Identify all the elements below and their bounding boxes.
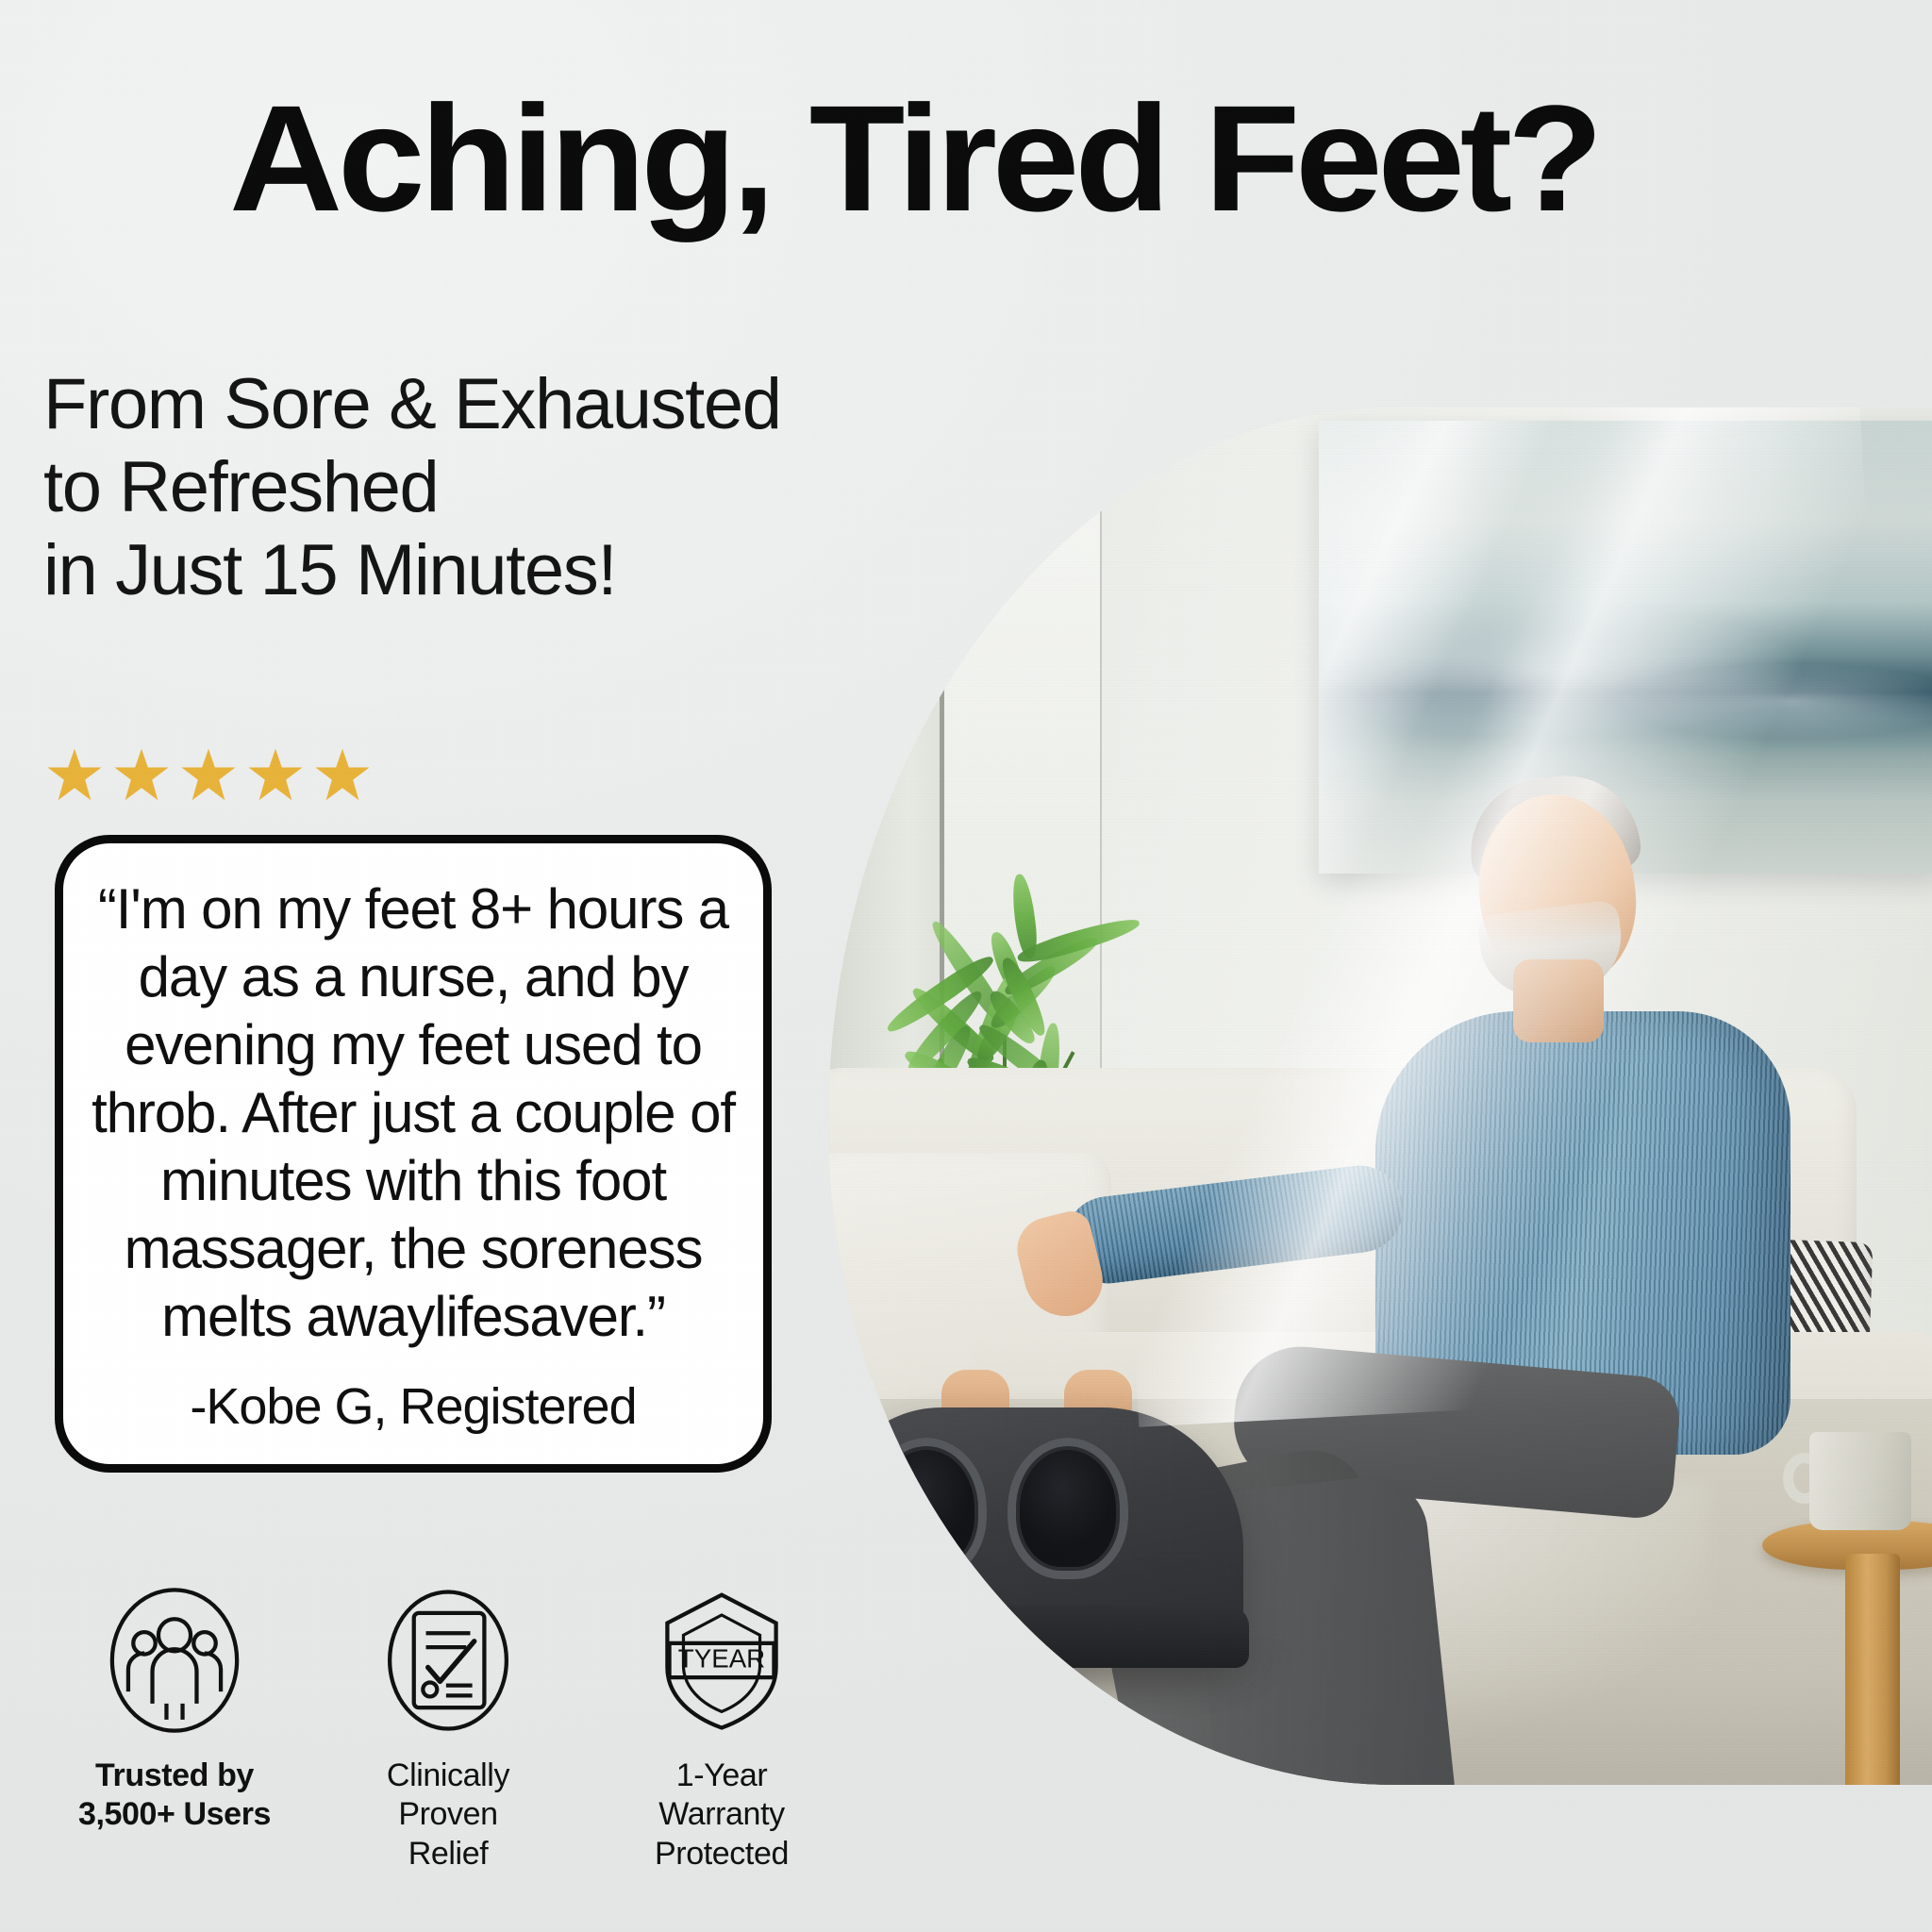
trust-badges: Trusted by 3,500+ UsersClinically Proven…	[66, 1585, 830, 1874]
star-icon	[179, 745, 238, 804]
shield-warranty-icon: TYEAR	[651, 1585, 792, 1736]
subheadline: From Sore & Exhausted to Refreshed in Ju…	[43, 363, 781, 612]
trust-badge-label: 1-Year Warranty Protected	[613, 1757, 830, 1874]
testimonial-quote: “I'm on my feet 8+ hours a day as a nurs…	[92, 875, 735, 1351]
hero-photo	[828, 408, 1932, 1785]
testimonial-author: -Kobe G, Registered	[92, 1377, 735, 1436]
advertisement-root: Aching, Tired Feet? From Sore & Exhauste…	[0, 0, 1932, 1932]
person-neck	[1513, 959, 1604, 1042]
star-icon	[112, 745, 171, 804]
star-icon	[313, 745, 372, 804]
page-title: Aching, Tired Feet?	[229, 83, 1598, 234]
testimonial-card: “I'm on my feet 8+ hours a day as a nurs…	[55, 835, 772, 1473]
star-rating	[45, 745, 372, 804]
massager-cavity-left	[866, 1438, 987, 1579]
massager-cavity-right	[1008, 1438, 1128, 1579]
room-scene	[828, 408, 1932, 1785]
users-group-icon	[104, 1585, 245, 1736]
ceramic-mug	[1809, 1432, 1911, 1530]
clipboard-check-icon	[377, 1585, 519, 1736]
side-table-leg	[1845, 1554, 1900, 1785]
trust-badge-label: Clinically Proven Relief	[340, 1757, 557, 1874]
star-icon	[45, 745, 104, 804]
massager-base	[828, 1606, 1249, 1668]
trust-badge: TYEAR1-Year Warranty Protected	[613, 1585, 830, 1874]
trust-badge-label: Trusted by 3,500+ Users	[78, 1757, 271, 1835]
trust-badge: Trusted by 3,500+ Users	[66, 1585, 283, 1835]
shield-label: TYEAR	[678, 1643, 765, 1673]
star-icon	[246, 745, 305, 804]
trust-badge: Clinically Proven Relief	[340, 1585, 557, 1874]
